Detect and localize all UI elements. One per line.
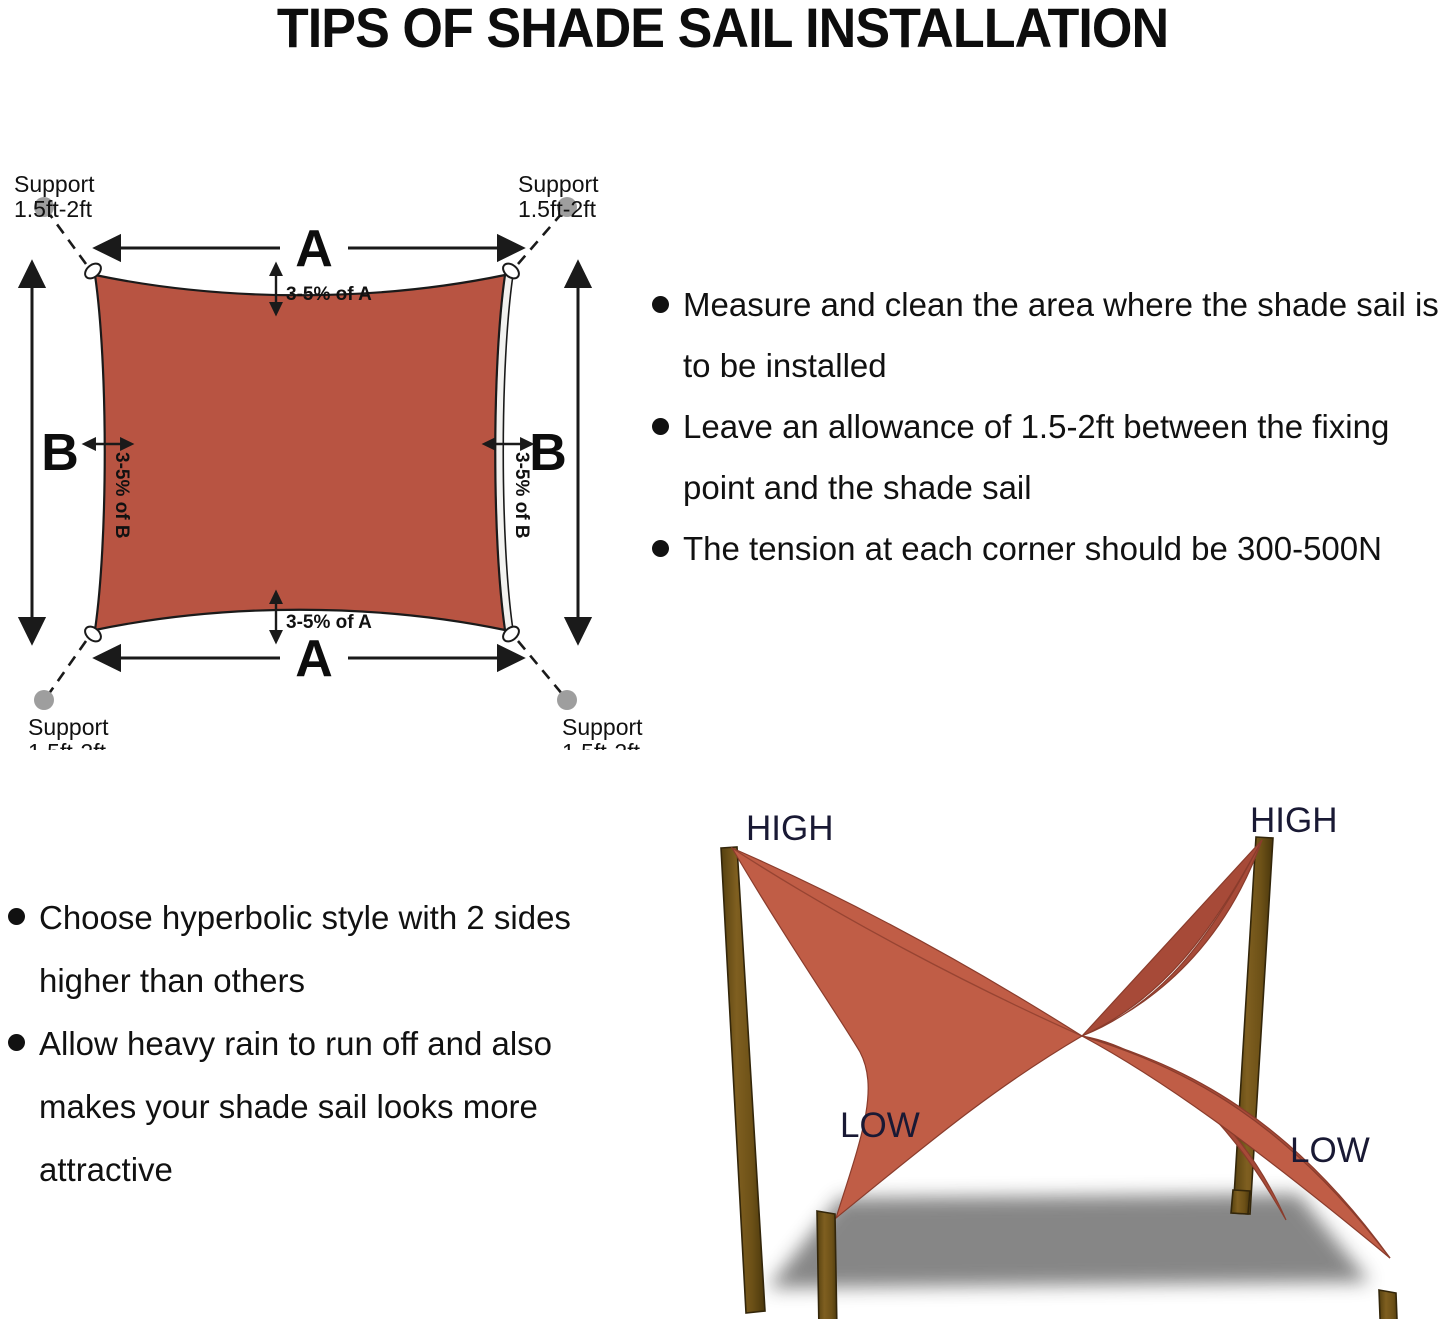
list-item: Leave an allowance of 1.5-2ft between th… <box>652 396 1445 518</box>
list-item: Allow heavy rain to run off and also mak… <box>8 1012 618 1201</box>
dimension-label-a-top: A <box>295 220 333 278</box>
page-title: TIPS OF SHADE SAIL INSTALLATION <box>51 0 1395 60</box>
dimension-label-b-left: B <box>41 424 79 482</box>
tip-text-hyperbolic-style: Choose hyperbolic style with 2 sides hig… <box>39 886 618 1012</box>
infographic-page: TIPS OF SHADE SAIL INSTALLATION <box>0 0 1445 1319</box>
curve-label-bottom: 3-5% of A <box>286 612 372 633</box>
label-high-right: HIGH <box>1250 801 1338 840</box>
curve-callout-left: 3-5% of B <box>95 444 132 539</box>
bullet-dot-icon <box>8 908 25 925</box>
hyperbolic-sail-diagram: HIGH HIGH LOW LOW <box>690 790 1445 1319</box>
tip-text-allowance: Leave an allowance of 1.5-2ft between th… <box>683 396 1445 518</box>
support-label-top-left-line2: 1.5ft-2ft <box>14 196 93 222</box>
curve-label-top: 3-5% of A <box>286 284 372 305</box>
list-item: Choose hyperbolic style with 2 sides hig… <box>8 886 618 1012</box>
rectangular-sail-diagram: A A B B 3-5% of A 3-5% of A 3- <box>0 150 660 750</box>
sail-fabric <box>95 275 505 630</box>
dash-bottom-right <box>518 641 563 695</box>
label-high-left: HIGH <box>746 809 834 848</box>
support-dot-bottom-right <box>557 690 577 710</box>
post-low-right <box>1379 1290 1399 1319</box>
bullet-dot-icon <box>8 1034 25 1051</box>
tip-text-tension: The tension at each corner should be 300… <box>683 518 1445 579</box>
support-label-bottom-left-line2: 1.5ft-2ft <box>28 739 107 750</box>
dimension-label-b-right: B <box>529 424 567 482</box>
post-mid-right <box>1231 1190 1250 1214</box>
label-low-left: LOW <box>840 1106 920 1145</box>
bullet-dot-icon <box>652 296 669 313</box>
tips-list-left: Choose hyperbolic style with 2 sides hig… <box>8 886 618 1201</box>
dimension-label-a-bottom: A <box>295 630 333 688</box>
support-label-top-right-line1: Support <box>518 171 599 197</box>
support-label-bottom-right-line2: 1.5ft-2ft <box>562 739 641 750</box>
bullet-dot-icon <box>652 418 669 435</box>
list-item: Measure and clean the area where the sha… <box>652 274 1445 396</box>
curve-label-left: 3-5% of B <box>111 452 132 539</box>
support-label-bottom-left-line1: Support <box>28 714 109 740</box>
label-low-right: LOW <box>1290 1131 1370 1170</box>
tips-list-right: Measure and clean the area where the sha… <box>652 274 1445 579</box>
support-label-bottom-right-line1: Support <box>562 714 643 740</box>
sail-surface-hypar <box>732 848 1082 1218</box>
bullet-dot-icon <box>652 540 669 557</box>
list-item: The tension at each corner should be 300… <box>652 518 1445 579</box>
post-high-left <box>721 847 765 1313</box>
sail-body-group <box>95 275 513 630</box>
support-dot-bottom-left <box>34 690 54 710</box>
support-label-top-left-line1: Support <box>14 171 95 197</box>
post-low-left <box>817 1211 838 1319</box>
curve-callout-top: 3-5% of A <box>276 275 372 305</box>
dash-bottom-left <box>48 641 86 695</box>
tip-text-rain-runoff: Allow heavy rain to run off and also mak… <box>39 1012 618 1201</box>
tip-text-measure-clean: Measure and clean the area where the sha… <box>683 274 1445 396</box>
support-label-top-right-line2: 1.5ft-2ft <box>518 196 597 222</box>
curve-label-right: 3-5% of B <box>511 452 532 539</box>
